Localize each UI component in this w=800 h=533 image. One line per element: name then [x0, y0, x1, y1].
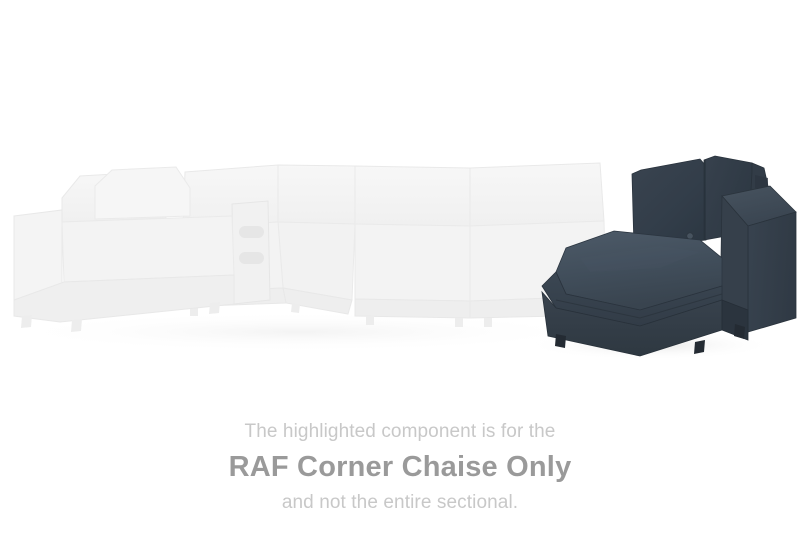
chaise-leg-front-left: [555, 334, 566, 348]
caption-line-tail: and not the entire sectional.: [0, 486, 800, 519]
product-highlight-card: The highlighted component is for the RAF…: [0, 0, 800, 533]
ghost-cupholder-lower: [239, 252, 264, 264]
ghost-piece-console: [232, 201, 270, 304]
sectional-illustration: [0, 0, 800, 400]
chaise-cushion-button: [687, 233, 693, 239]
caption-block: The highlighted component is for the RAF…: [0, 415, 800, 519]
ghost-cupholder-upper: [239, 226, 264, 238]
chaise-leg-front-right: [694, 340, 705, 354]
ghost-piece-corner-wedge: [278, 165, 355, 314]
ghost-piece-armless-mid: [355, 166, 470, 327]
caption-line-emphasis: RAF Corner Chaise Only: [0, 448, 800, 486]
ghost-sectional: [0, 163, 606, 352]
chaise-arm-outer: [748, 212, 796, 332]
caption-line-lead: The highlighted component is for the: [0, 415, 800, 448]
